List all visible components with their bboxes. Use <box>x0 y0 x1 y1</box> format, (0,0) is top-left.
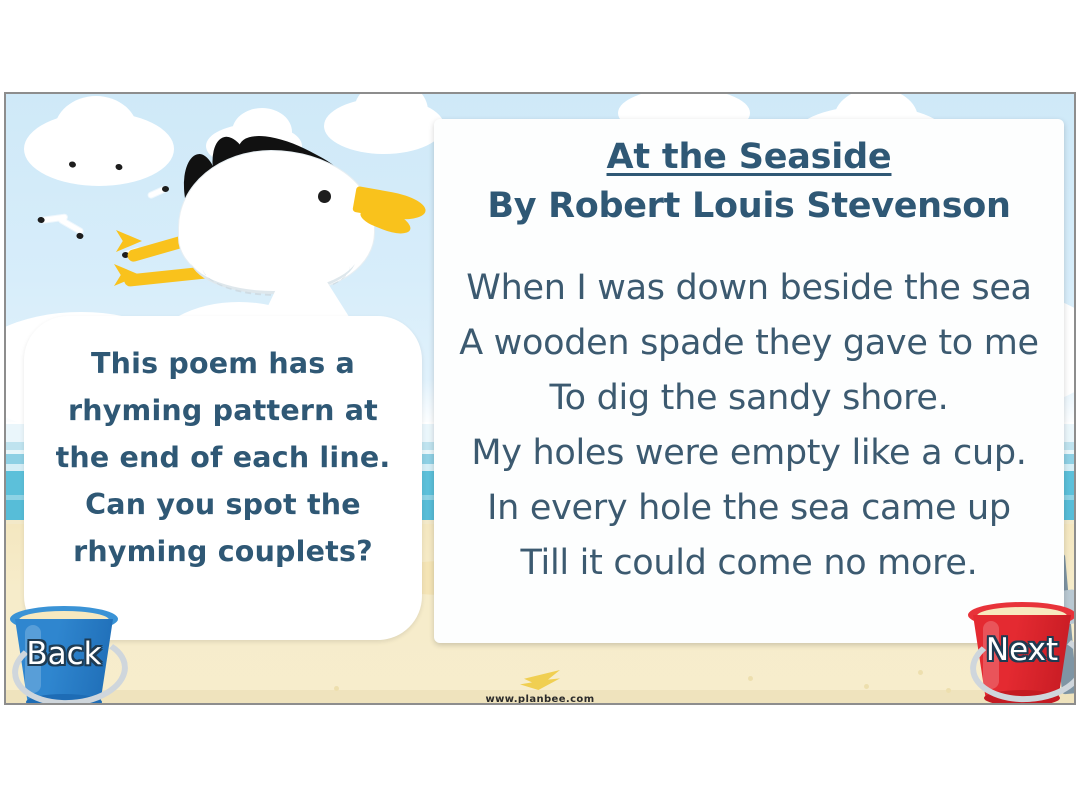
back-button[interactable]: Back <box>10 606 118 705</box>
watermark-text: www.planbee.com <box>6 694 1074 705</box>
speech-bubble-line: rhyming pattern at <box>48 387 398 434</box>
shell-icon <box>520 670 560 690</box>
poem-line: To dig the sandy shore. <box>434 371 1064 426</box>
seagull-eye <box>318 190 331 203</box>
next-button-label: Next <box>968 632 1076 668</box>
speech-bubble-line: the end of each line. <box>48 434 398 481</box>
poem-line: My holes were empty like a cup. <box>434 426 1064 481</box>
poem-line: When I was down beside the sea <box>434 261 1064 316</box>
speech-bubble-line: This poem has a <box>48 340 398 387</box>
back-button-label: Back <box>10 636 118 672</box>
speech-bubble-line: rhyming couplets? <box>48 528 398 575</box>
poem-panel: At the Seaside By Robert Louis Stevenson… <box>434 119 1064 643</box>
watermark: www.planbee.com <box>6 670 1074 705</box>
speech-bubble-text: This poem has a rhyming pattern at the e… <box>48 340 398 575</box>
page-title: At the Seaside <box>434 133 1064 181</box>
poem-body: When I was down beside the sea A wooden … <box>434 261 1064 591</box>
slide-canvas: This poem has a rhyming pattern at the e… <box>4 92 1076 705</box>
poem-line: In every hole the sea came up <box>434 481 1064 536</box>
poem-heading: At the Seaside By Robert Louis Stevenson <box>434 119 1064 231</box>
poem-line: Till it could come no more. <box>434 536 1064 591</box>
speech-bubble: This poem has a rhyming pattern at the e… <box>24 316 422 640</box>
next-button[interactable]: Next <box>968 602 1076 705</box>
poem-author: By Robert Louis Stevenson <box>434 181 1064 231</box>
poem-line: A wooden spade they gave to me <box>434 316 1064 371</box>
speech-bubble-line: Can you spot the <box>48 481 398 528</box>
